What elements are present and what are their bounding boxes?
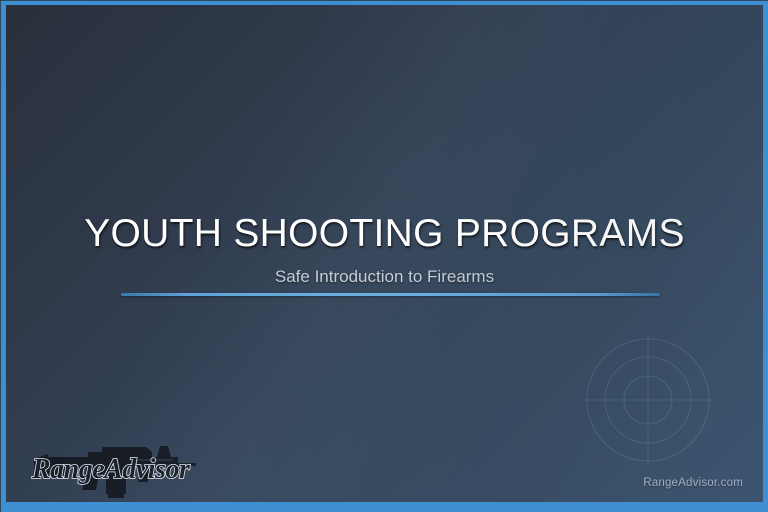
crosshair-target-icon	[581, 333, 715, 467]
footer-url: RangeAdvisor.com	[643, 477, 743, 489]
presentation-slide: YOUTH SHOOTING PROGRAMS Safe Introductio…	[0, 0, 768, 512]
slide-canvas: YOUTH SHOOTING PROGRAMS Safe Introductio…	[6, 5, 763, 502]
page-title: YOUTH SHOOTING PROGRAMS	[6, 211, 763, 257]
title-block: YOUTH SHOOTING PROGRAMS Safe Introductio…	[6, 211, 763, 287]
slide-edge-hairline-top	[0, 0, 768, 1]
brand-logo: RangeAdvisor	[28, 432, 206, 498]
brand-wordmark: RangeAdvisor	[31, 454, 191, 485]
slide-edge-hairline-left	[0, 0, 1, 512]
page-subtitle: Safe Introduction to Firearms	[6, 266, 763, 287]
title-divider	[121, 293, 660, 296]
